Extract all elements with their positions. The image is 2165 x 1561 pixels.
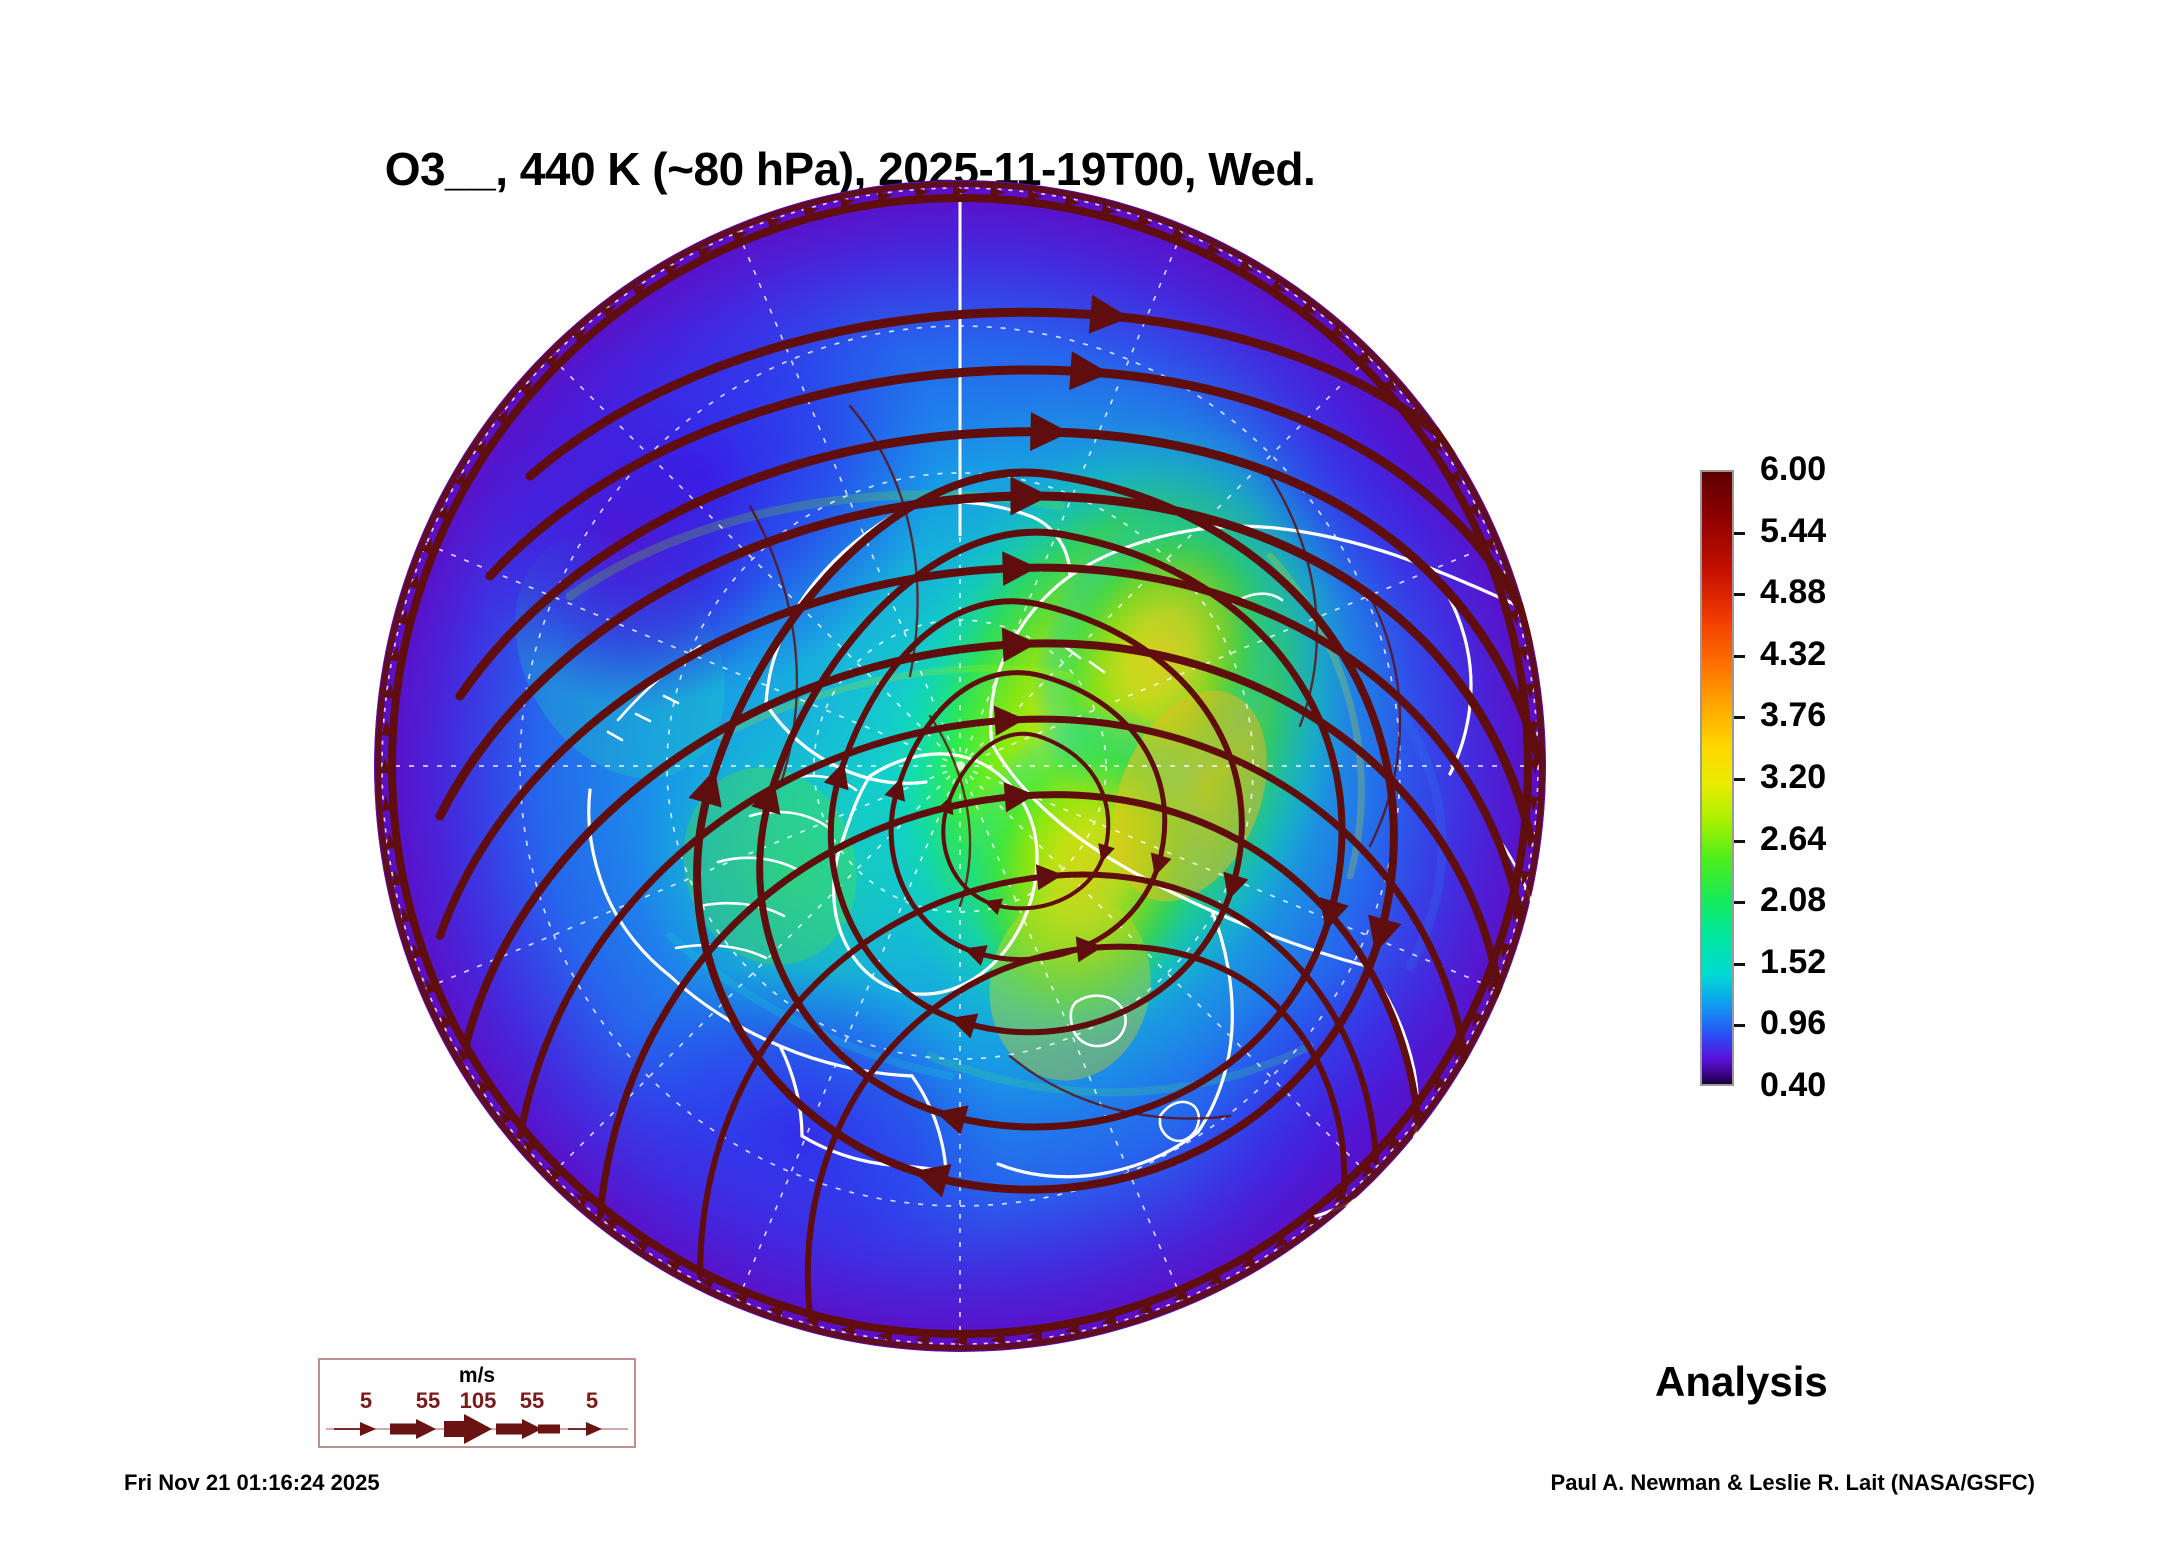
colorbar-tick-label: 0.40 [1760,1068,1826,1102]
generation-timestamp: Fri Nov 21 01:16:24 2025 [124,1470,380,1496]
colorbar-tick-label: 2.64 [1760,822,1826,856]
colorbar-tick-label: 0.96 [1760,1006,1826,1040]
colorbar-tick-label: 2.08 [1760,883,1826,917]
colorbar-tick-label: 5.44 [1760,514,1826,548]
polar-map-panel [370,176,1550,1356]
polar-map [370,176,1550,1356]
colorbar-gradient [1700,470,1734,1086]
colorbar-tick [1734,1024,1745,1027]
colorbar-tick-label: 4.88 [1760,575,1826,609]
wind-legend-value: 55 [416,1388,440,1414]
colorbar-tick-label: 1.52 [1760,945,1826,979]
author-credit: Paul A. Newman & Leslie R. Lait (NASA/GS… [1551,1470,2035,1496]
wind-legend-value: 55 [520,1388,544,1414]
colorbar-tick-label: 3.76 [1760,698,1826,732]
colorbar: 6.005.444.884.323.763.202.642.081.520.96… [1700,466,1970,1090]
colorbar-tick [1734,716,1745,719]
colorbar-tick-label: 3.20 [1760,760,1826,794]
colorbar-tick-label: 4.32 [1760,637,1826,671]
colorbar-tick [1734,655,1745,658]
colorbar-tick [1734,840,1745,843]
wind-legend-value: 5 [360,1388,372,1414]
colorbar-tick [1734,593,1745,596]
wind-speed-legend: m/s 555105555 [318,1358,636,1448]
analysis-label: Analysis [1655,1358,1828,1406]
colorbar-tick [1734,963,1745,966]
colorbar-tick [1734,778,1745,781]
wind-legend-value: 105 [460,1388,497,1414]
wind-units-label: m/s [320,1364,634,1388]
colorbar-tick [1734,532,1745,535]
colorbar-tick-label: 6.00 [1760,452,1826,486]
wind-arrow-scale [320,1412,634,1446]
wind-legend-value: 5 [586,1388,598,1414]
colorbar-tick [1734,901,1745,904]
